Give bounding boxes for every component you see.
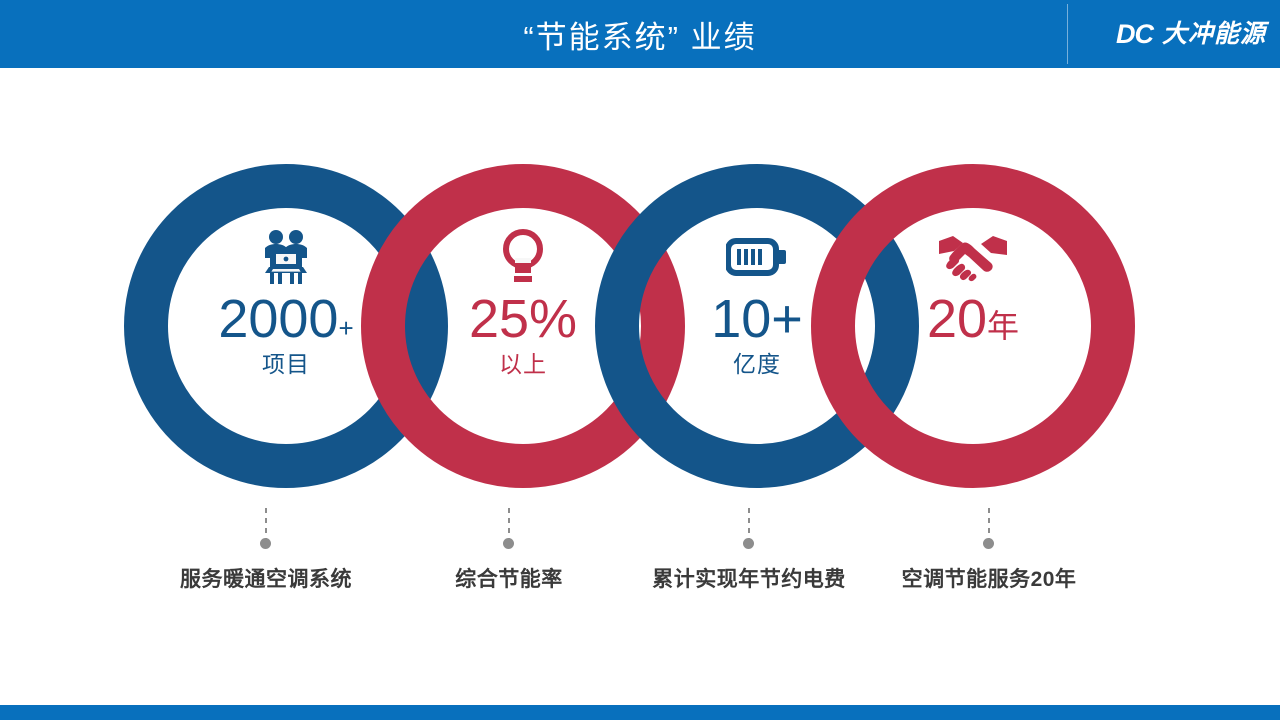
caption-2: 综合节能率: [455, 563, 563, 593]
battery-icon: [726, 226, 788, 288]
handshake-icon: [937, 226, 1009, 288]
connector-dot-2: [503, 538, 514, 549]
caption-4: 空调节能服务20年: [902, 563, 1077, 593]
stat-number-3: 10+: [711, 292, 803, 346]
logo-mark: DC: [1116, 21, 1153, 48]
stat-number-1: 2000: [218, 292, 338, 346]
footer-bar: [0, 705, 1280, 720]
stat-suffix-1: +: [338, 315, 353, 341]
stat-unit-2: 以上: [499, 353, 547, 376]
brand-logo: DC 大冲能源: [1116, 0, 1266, 68]
page-title: “节能系统” 业绩: [0, 0, 1280, 68]
stat-number-2: 25%: [469, 292, 577, 346]
connector-line-3: [748, 508, 750, 540]
stat-unit-3: 亿度: [733, 353, 781, 376]
stat-card-4[interactable]: 20年: [855, 208, 1091, 444]
caption-3: 累计实现年节约电费: [652, 563, 846, 593]
stat-suffix-4: 年: [987, 310, 1019, 342]
connector-line-4: [988, 508, 990, 540]
connector-line-2: [508, 508, 510, 540]
stat-number-4: 20: [927, 292, 987, 346]
stat-card-3[interactable]: 10+ 亿度: [639, 208, 875, 444]
connector-dot-4: [983, 538, 994, 549]
lightbulb-icon: [496, 226, 550, 288]
logo-name: 大冲能源: [1162, 22, 1266, 47]
header-divider: [1067, 4, 1068, 64]
stat-unit-1: 项目: [262, 353, 310, 376]
stat-value-2: 25%: [469, 292, 577, 346]
connector-dot-1: [260, 538, 271, 549]
stat-card-1[interactable]: 2000+ 项目: [168, 208, 404, 444]
stat-value-3: 10+: [711, 292, 803, 346]
two-people-teamwork-icon: [256, 226, 316, 288]
connector-line-1: [265, 508, 267, 540]
stat-value-1: 2000+: [218, 292, 353, 346]
connector-dot-3: [743, 538, 754, 549]
caption-1: 服务暖通空调系统: [180, 563, 352, 593]
stat-card-2[interactable]: 25% 以上: [405, 208, 641, 444]
stat-value-4: 20年: [927, 292, 1019, 346]
